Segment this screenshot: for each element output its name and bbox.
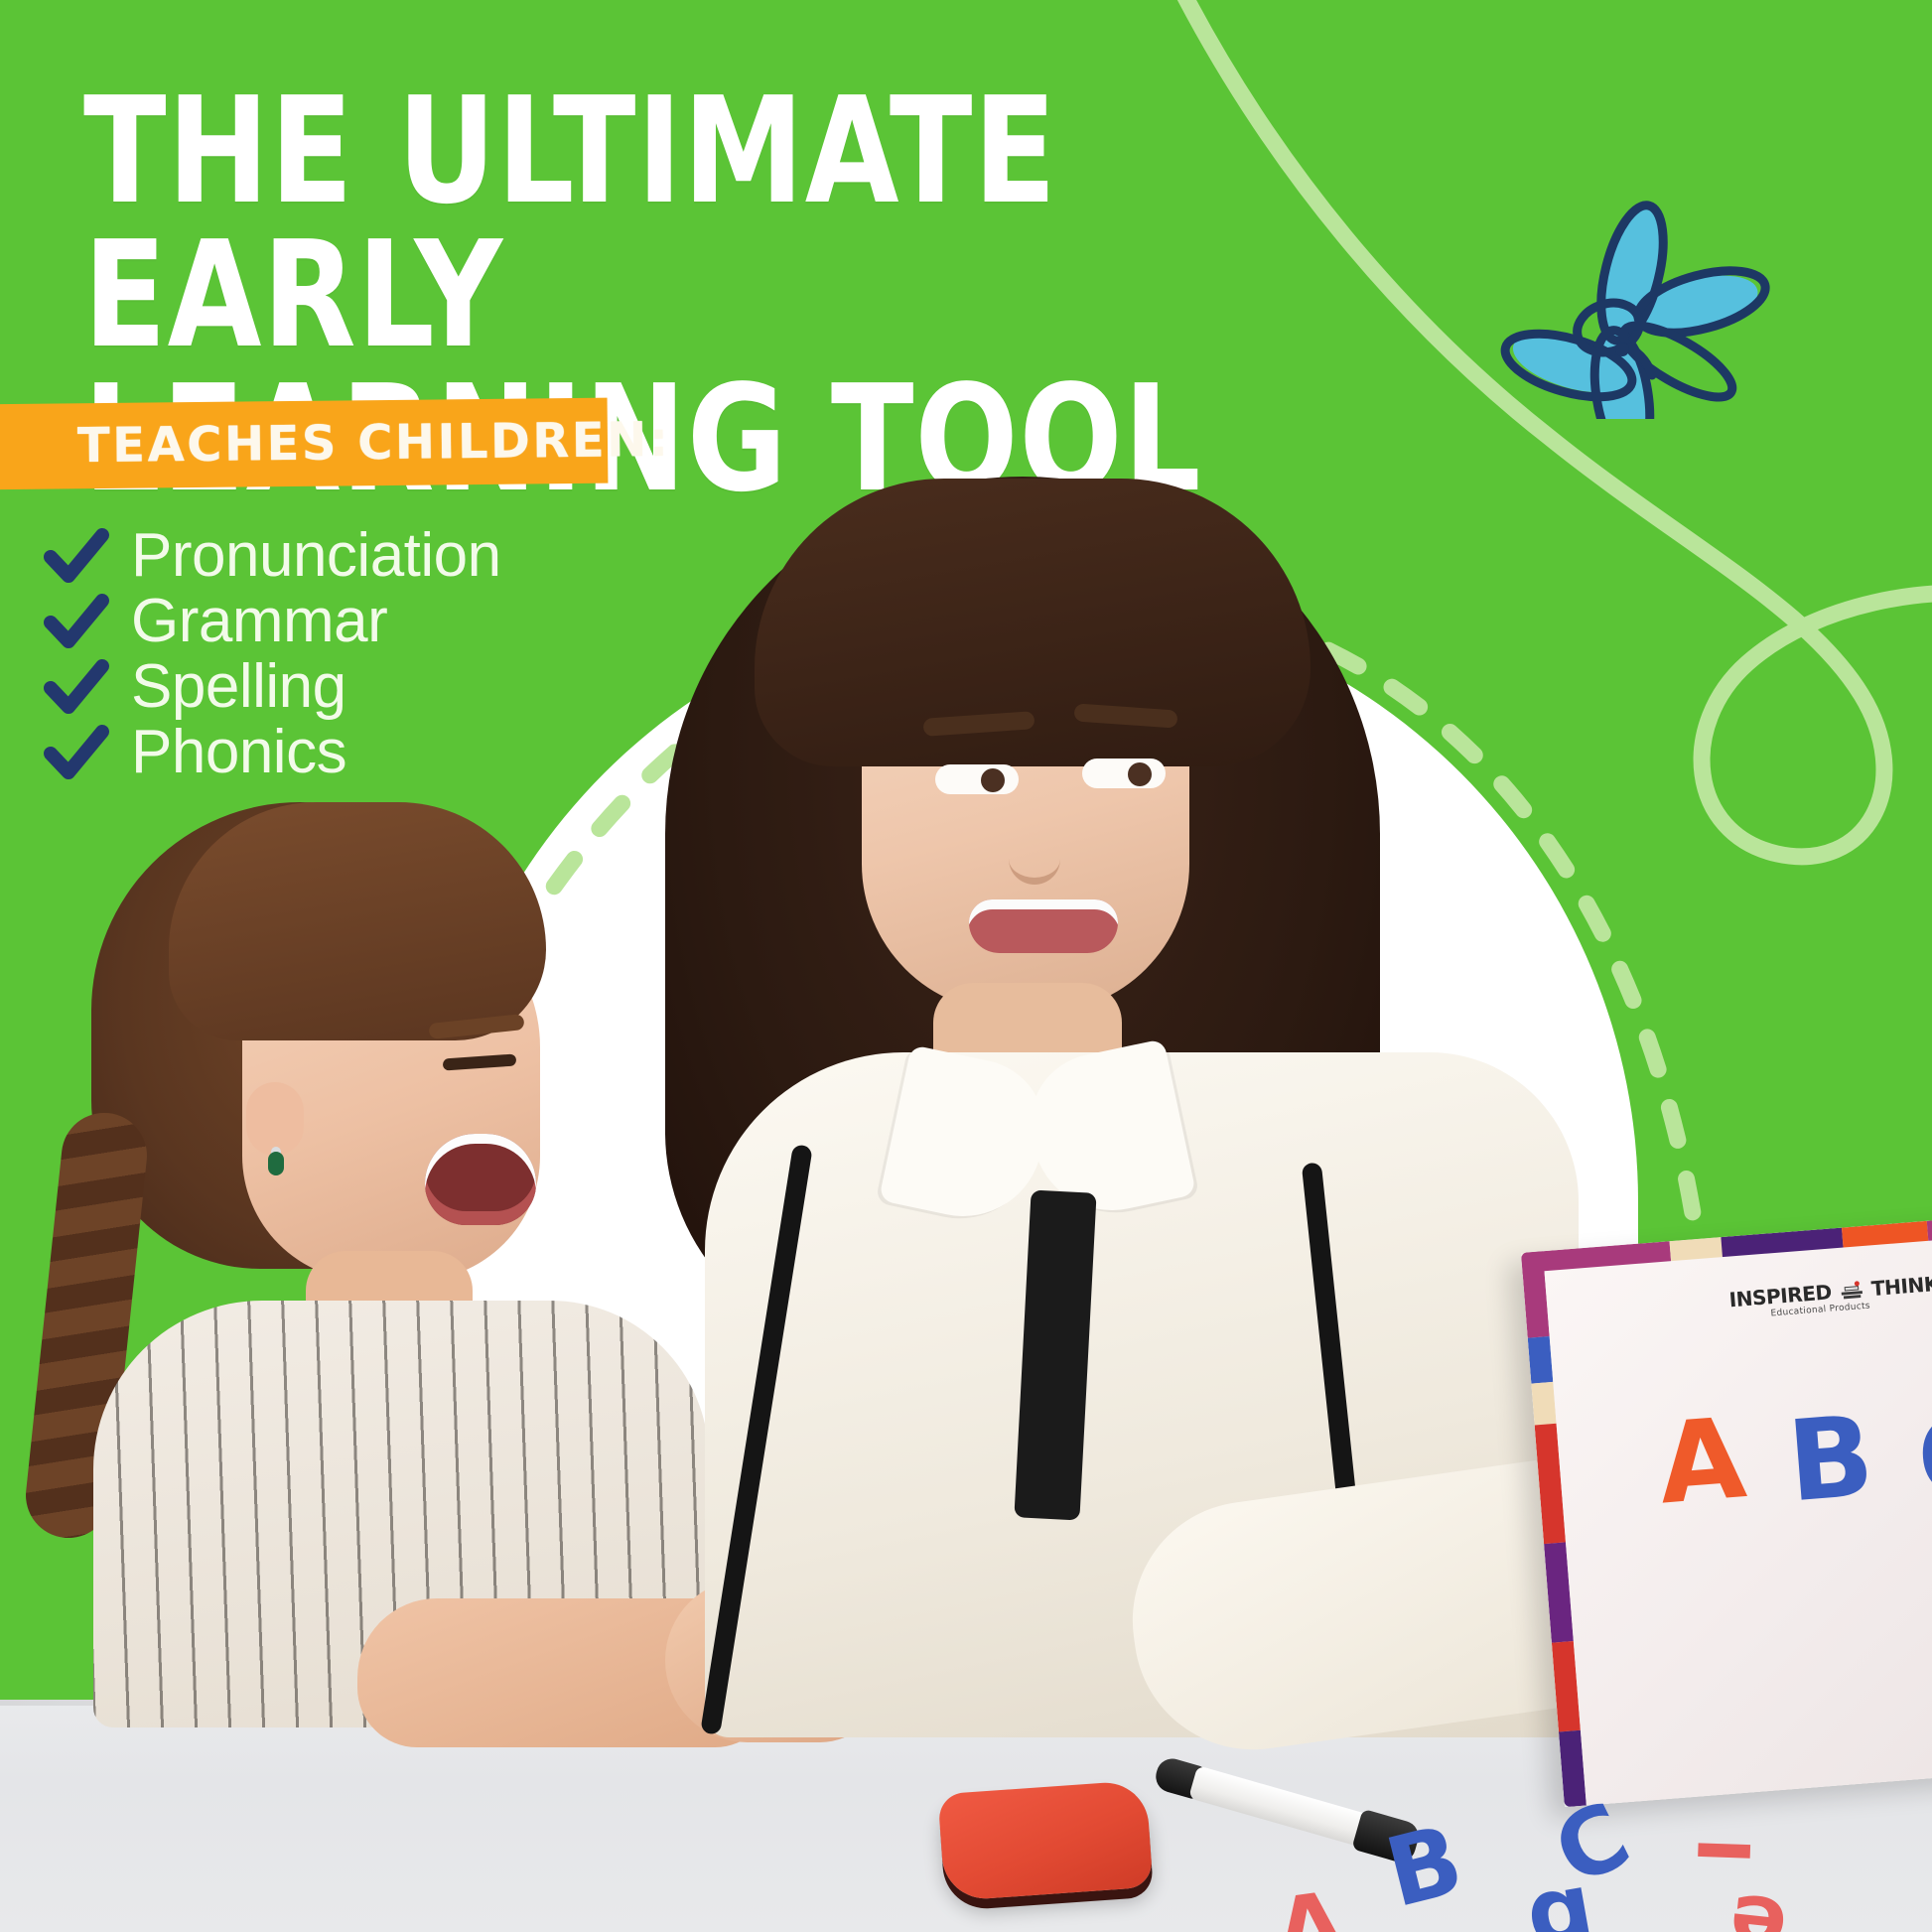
books-icon [1839, 1280, 1864, 1301]
teacher-eye-left [935, 764, 1019, 794]
list-item: Grammar [44, 590, 580, 653]
list-item-label: Grammar [131, 591, 387, 652]
child-open-mouth [425, 1134, 536, 1225]
checkmark-icon [44, 658, 109, 716]
list-item-label: Spelling [131, 656, 346, 718]
teacher-nose [1009, 832, 1060, 885]
board-letter-b[interactable]: B [1784, 1401, 1877, 1518]
teacher-eye-right [1082, 759, 1166, 788]
child-student-figure [30, 784, 665, 1718]
magnetic-whiteboard[interactable]: INSPIRED THINKERS Educational Products A… [1521, 1214, 1932, 1808]
checkmark-icon [44, 724, 109, 781]
list-item-label: Pronunciation [131, 525, 501, 587]
eraser-body [937, 1780, 1153, 1901]
promotional-banner: THE ULTIMATE EARLY LEARNING TOOL TEACHES… [0, 0, 1932, 1932]
adult-teacher-figure [635, 467, 1668, 1718]
teacher-smiling-mouth [969, 899, 1118, 953]
border-segment [1531, 1382, 1556, 1426]
dragonfly-icon [1471, 171, 1799, 419]
table-letter-e[interactable]: e [1725, 1881, 1790, 1932]
list-item: Pronunciation [44, 524, 580, 588]
child-ear [246, 1082, 304, 1156]
checkmark-icon [44, 593, 109, 650]
list-item: Spelling [44, 655, 580, 719]
benefits-checklist: Pronunciation Grammar Spelling Phonics [44, 524, 580, 786]
table-letter-i[interactable]: I [1687, 1836, 1759, 1864]
whiteboard-frame: INSPIRED THINKERS Educational Products A… [1521, 1214, 1932, 1808]
checkmark-icon [44, 527, 109, 585]
child-hair-front [169, 802, 546, 1040]
table-letter-a[interactable]: A [1271, 1880, 1348, 1932]
list-item-label: Phonics [131, 722, 346, 783]
board-letter-a[interactable]: A [1655, 1403, 1749, 1520]
list-item: Phonics [44, 721, 580, 784]
child-earring [268, 1152, 284, 1175]
magnetic-whiteboard-eraser[interactable] [937, 1780, 1153, 1901]
teaches-children-label: TEACHES CHILDREN: [77, 412, 671, 474]
